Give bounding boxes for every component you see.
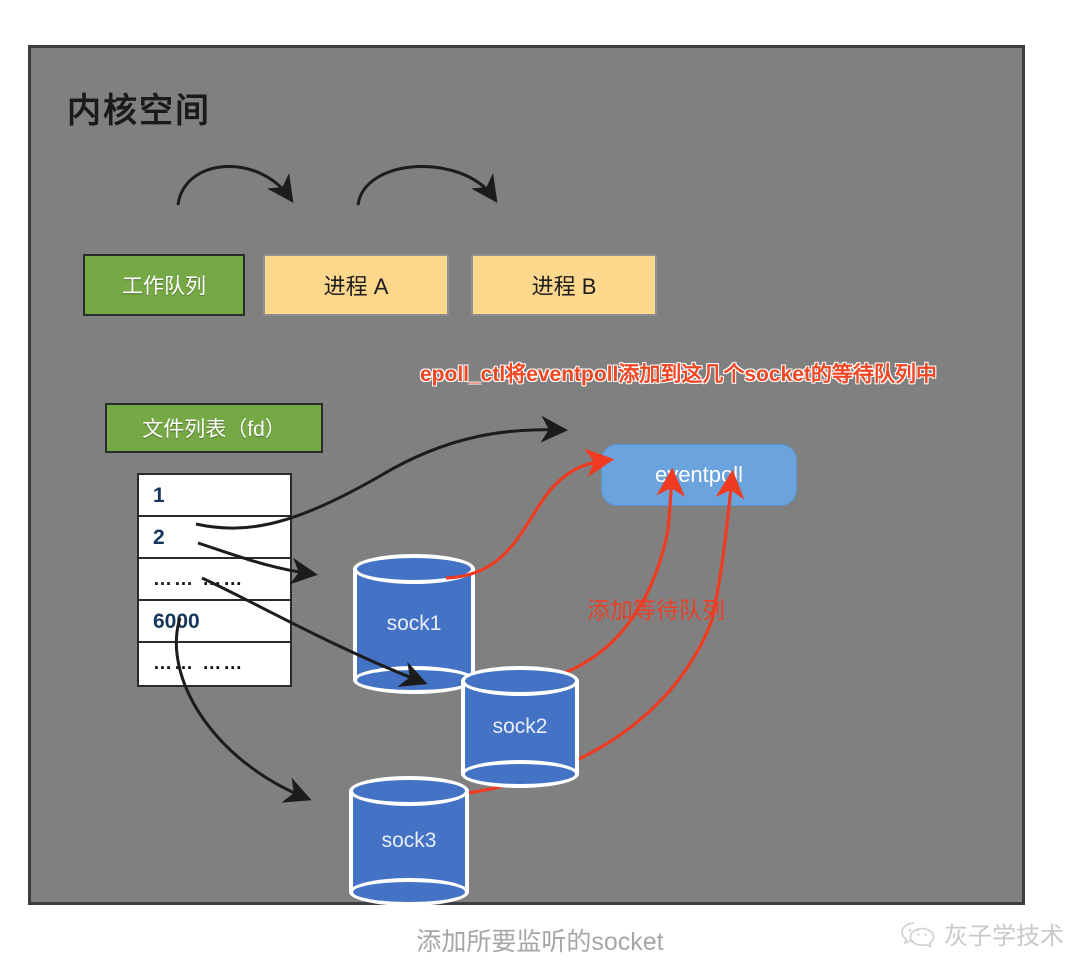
eventpoll-node: eventpoll (601, 444, 797, 506)
process-a-box: 进程 A (263, 254, 449, 316)
file-descriptor-table: 1 2 …… …… 6000 …… …… (137, 473, 292, 687)
page-title: 内核空间 (67, 83, 211, 132)
workqueue-box: 工作队列 (83, 254, 245, 316)
socket-cylinder-sock1: sock1 (353, 554, 475, 694)
socket-cylinder-sock3: sock3 (349, 776, 469, 906)
watermark: 灰子学技术 (900, 916, 1064, 951)
wechat-icon (900, 920, 936, 948)
process-a-label: 进程 A (324, 269, 389, 301)
fd-row: …… …… (139, 643, 290, 685)
fd-row: 6000 (139, 601, 290, 643)
socket-label: sock1 (353, 554, 475, 694)
epoll-ctl-annotation: epoll_ctl将eventpoll添加到这几个socket的等待队列中 (420, 361, 1010, 389)
socket-label: sock3 (349, 776, 469, 906)
kernel-space-panel: 内核空间 工作队列 进程 A 进程 B 文件列表（fd） 1 2 …… …… 6… (28, 45, 1025, 905)
file-list-header-label: 文件列表（fd） (142, 413, 286, 443)
process-b-label: 进程 B (532, 269, 597, 301)
process-b-box: 进程 B (471, 254, 657, 316)
workqueue-label: 工作队列 (122, 270, 206, 300)
file-list-header: 文件列表（fd） (105, 403, 323, 453)
socket-cylinder-sock2: sock2 (461, 666, 579, 788)
socket-label: sock2 (461, 666, 579, 788)
fd-row: 1 (139, 475, 290, 517)
watermark-label: 灰子学技术 (944, 916, 1064, 951)
eventpoll-label: eventpoll (655, 462, 743, 488)
fd-row: …… …… (139, 559, 290, 601)
add-wait-queue-label: 添加等待队列 (587, 591, 725, 625)
fd-row: 2 (139, 517, 290, 559)
